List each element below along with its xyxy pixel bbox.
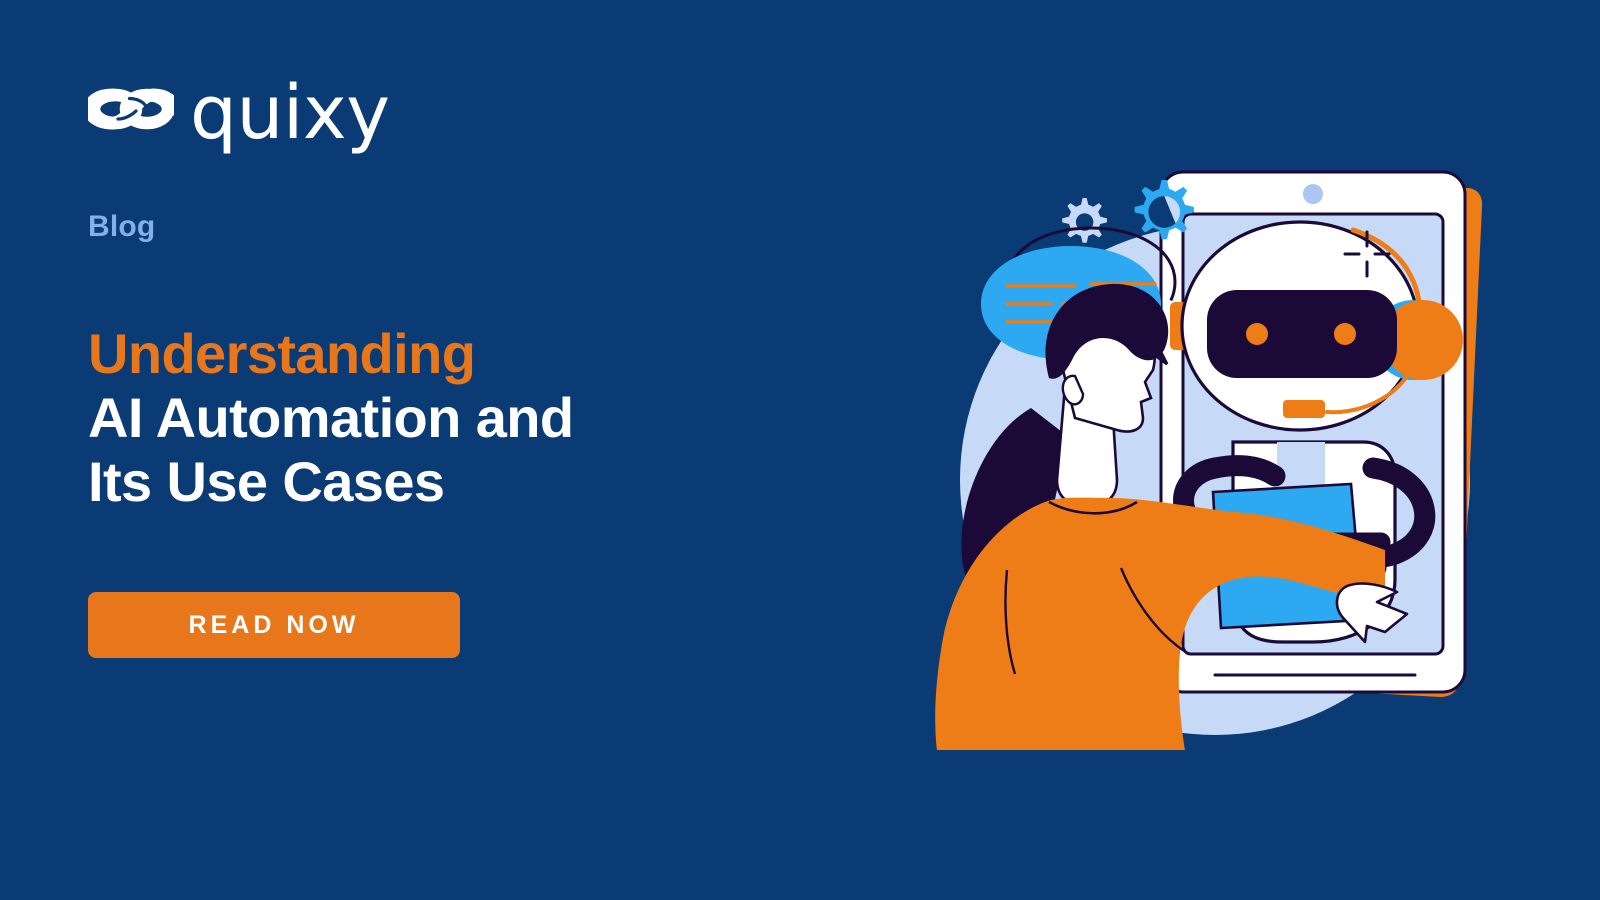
brand-name: quixy — [190, 80, 390, 147]
ai-automation-illustration — [915, 150, 1495, 750]
robot-microphone — [1283, 400, 1325, 418]
blog-promo-banner: quixy Blog Understanding AI Automation a… — [0, 0, 1600, 900]
robot-visor — [1207, 290, 1397, 378]
page-title: Understanding AI Automation and Its Use … — [88, 322, 728, 513]
left-content-column: quixy Blog Understanding AI Automation a… — [88, 0, 788, 900]
robot-eye-left — [1246, 323, 1268, 345]
robot-eye-right — [1334, 323, 1356, 345]
gear-small-icon — [1062, 198, 1107, 243]
gear-large-icon — [1135, 180, 1194, 239]
brand-logo[interactable]: quixy — [88, 76, 390, 143]
infinity-loop-icon — [88, 78, 174, 140]
headline-accent-line: Understanding — [88, 322, 728, 386]
read-now-button[interactable]: READ NOW — [88, 592, 460, 658]
category-label: Blog — [88, 210, 155, 244]
headline-line-2: Its Use Cases — [88, 450, 728, 514]
headline-line-1: AI Automation and — [88, 386, 728, 450]
phone-camera-dot — [1303, 184, 1323, 204]
